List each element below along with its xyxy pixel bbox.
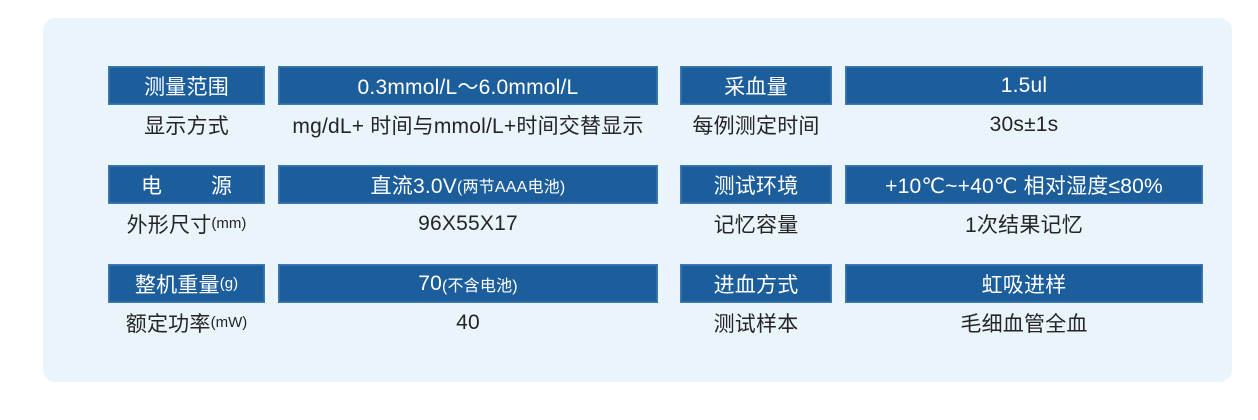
spec-value-text: 30s±1s [990,113,1059,137]
spec-label: 额定功率(mW) [108,303,265,342]
spec-value-text: 1次结果记忆 [965,209,1083,239]
spec-label: 测量范围 [108,66,265,105]
spec-label-unit: (g) [220,275,238,292]
spec-value-text: 毛细血管全血 [960,308,1087,338]
spec-label: 记忆容量 [680,204,832,243]
spec-label: 测试环境 [680,165,832,204]
spec-value: 1.5ul [845,66,1203,105]
spec-value: +10℃~+40℃ 相对湿度≤80% [845,165,1203,204]
spec-row: 测量范围 0.3mmol/L～6.0mmol/L [108,66,658,105]
spec-value-text: 直流3.0V [371,170,457,200]
spec-value: 40 [278,303,658,342]
spec-label: 显示方式 [108,105,265,144]
spec-value-text: mg/dL+ 时间与mmol/L+时间交替显示 [292,110,643,140]
spec-label: 电 源 [108,165,265,204]
spec-row: 进血方式 虹吸进样 [680,264,1203,303]
spec-label: 整机重量(g) [108,264,265,303]
spec-row: 每例测定时间 30s±1s [680,105,1203,144]
spec-column-left: 测量范围 0.3mmol/L～6.0mmol/L 显示方式 mg/dL+ 时间与… [108,66,658,342]
spec-label-unit: (mm) [211,215,246,232]
spec-value-sub: (两节AAA电池) [457,173,565,197]
spec-value-text: 0.3mmol/L～6.0mmol/L [358,71,579,101]
spec-value: mg/dL+ 时间与mmol/L+时间交替显示 [278,105,658,144]
spec-row: 额定功率(mW) 40 [108,303,658,342]
spec-label: 每例测定时间 [680,105,832,144]
spec-label-text: 采血量 [724,71,788,101]
spec-label-text: 进血方式 [714,269,799,299]
spec-label-text: 测量范围 [144,71,229,101]
spec-row: 测试样本 毛细血管全血 [680,303,1203,342]
spec-label: 进血方式 [680,264,832,303]
spec-value: 虹吸进样 [845,264,1203,303]
spec-label-text: 记忆容量 [714,209,799,239]
spec-row: 电 源 直流3.0V(两节AAA电池) [108,165,658,204]
spec-label-text: 整机重量 [135,269,220,299]
spec-label-text: 每例测定时间 [692,110,819,140]
spec-label-unit: (mW) [211,314,248,331]
spec-label-text: 额定功率 [126,308,211,338]
spec-row: 记忆容量 1次结果记忆 [680,204,1203,243]
spec-panel: 测量范围 0.3mmol/L～6.0mmol/L 显示方式 mg/dL+ 时间与… [43,18,1232,382]
spec-value-text: 虹吸进样 [982,269,1067,299]
spec-value-sub: (不含电池) [442,272,518,296]
spec-value-text: 96X55X17 [418,212,518,236]
spec-label-text: 外形尺寸 [127,209,212,239]
spec-row: 采血量 1.5ul [680,66,1203,105]
spec-label: 测试样本 [680,303,832,342]
spec-label-text: 测试环境 [714,170,799,200]
spec-value: 30s±1s [845,105,1203,144]
spec-label-text: 显示方式 [144,110,229,140]
spec-label-text: 电 源 [127,170,246,200]
spec-label-text: 测试样本 [714,308,799,338]
spec-row: 显示方式 mg/dL+ 时间与mmol/L+时间交替显示 [108,105,658,144]
spec-table: 测量范围 0.3mmol/L～6.0mmol/L 显示方式 mg/dL+ 时间与… [108,66,1203,342]
spec-value: 毛细血管全血 [845,303,1203,342]
spec-label: 采血量 [680,66,832,105]
spec-value-text: +10℃~+40℃ 相对湿度≤80% [885,170,1163,200]
spec-row: 外形尺寸(mm) 96X55X17 [108,204,658,243]
spec-value: 1次结果记忆 [845,204,1203,243]
spec-value-text: 1.5ul [1001,74,1048,98]
spec-column-right: 采血量 1.5ul 每例测定时间 30s±1s 测试环境 + [680,66,1203,342]
spec-value-text: 70 [418,272,442,296]
spec-label: 外形尺寸(mm) [108,204,265,243]
spec-value: 0.3mmol/L～6.0mmol/L [278,66,658,105]
spec-row: 整机重量(g) 70(不含电池) [108,264,658,303]
spec-value: 直流3.0V(两节AAA电池) [278,165,658,204]
spec-value: 70(不含电池) [278,264,658,303]
spec-value: 96X55X17 [278,204,658,243]
spec-row: 测试环境 +10℃~+40℃ 相对湿度≤80% [680,165,1203,204]
spec-value-text: 40 [456,311,480,335]
